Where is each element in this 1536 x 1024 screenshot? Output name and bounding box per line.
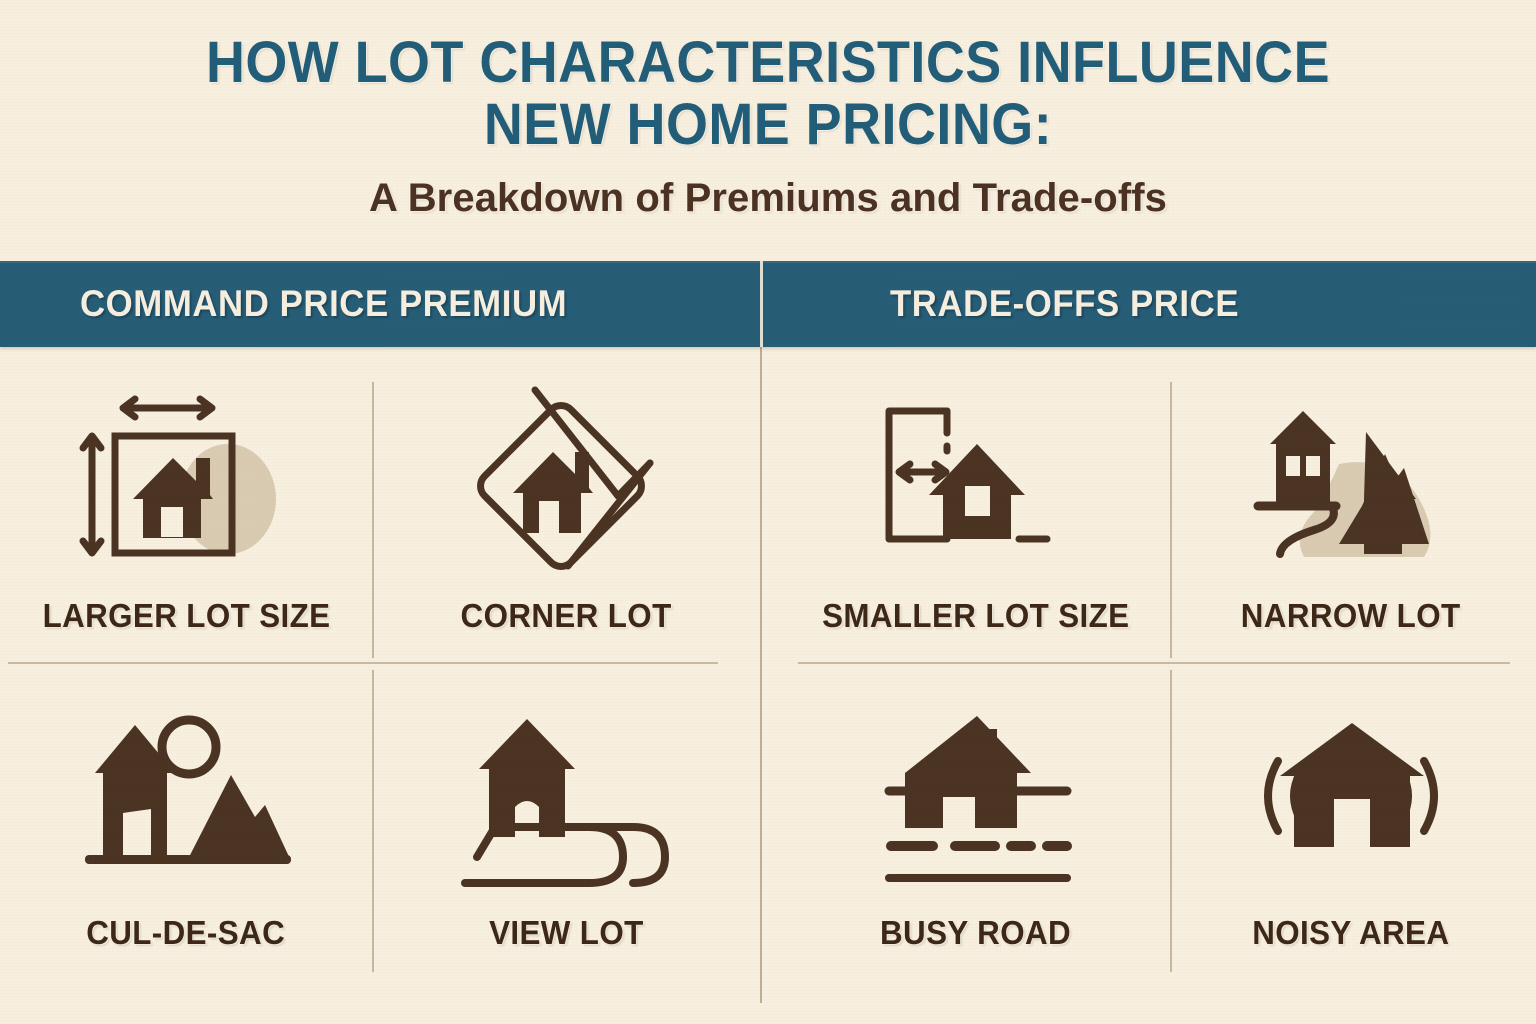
feature-cell-noisy-area[interactable]: NOISY AREA bbox=[1165, 692, 1536, 1008]
title-line-1: HOW LOT CHARACTERISTICS INFLUENCE bbox=[206, 30, 1330, 95]
page-title: HOW LOT CHARACTERISTICS INFLUENCE NEW HO… bbox=[54, 0, 1482, 156]
feature-label: SMALLER LOT SIZE bbox=[822, 597, 1129, 635]
section-header-tradeoffs: TRADE-OFFS PRICE bbox=[762, 261, 1536, 347]
infographic-page: HOW LOT CHARACTERISTICS INFLUENCE NEW HO… bbox=[0, 0, 1536, 1024]
diamond-lot-streets-icon bbox=[451, 375, 681, 597]
house-path-mountain-icon bbox=[1244, 375, 1459, 597]
feature-cell-smaller-lot-size[interactable]: SMALLER LOT SIZE bbox=[790, 375, 1162, 691]
section-title-tradeoffs: TRADE-OFFS PRICE bbox=[890, 283, 1239, 325]
house-sound-waves-icon bbox=[1244, 692, 1459, 914]
feature-label: LARGER LOT SIZE bbox=[42, 597, 330, 635]
feature-cell-view-lot[interactable]: VIEW LOT bbox=[380, 692, 752, 1008]
house-sun-mountain-icon bbox=[79, 692, 294, 914]
feature-label: NARROW LOT bbox=[1241, 597, 1461, 635]
feature-cell-busy-road[interactable]: BUSY ROAD bbox=[790, 692, 1162, 1008]
feature-label: CUL-DE-SAC bbox=[87, 914, 286, 952]
feature-cell-cul-de-sac[interactable]: CUL-DE-SAC bbox=[0, 692, 372, 1008]
feature-cell-larger-lot-size[interactable]: LARGER LOT SIZE bbox=[0, 375, 372, 691]
feature-label: VIEW LOT bbox=[489, 914, 644, 952]
narrow-rectangle-house-icon bbox=[871, 375, 1081, 597]
title-line-2: NEW HOME PRICING: bbox=[54, 94, 1482, 156]
header: HOW LOT CHARACTERISTICS INFLUENCE NEW HO… bbox=[0, 0, 1536, 261]
section-header-premium: COMMAND PRICE PREMIUM bbox=[0, 261, 760, 347]
feature-cell-narrow-lot[interactable]: NARROW LOT bbox=[1165, 375, 1536, 691]
feature-label: NOISY AREA bbox=[1252, 914, 1449, 952]
house-road-lines-icon bbox=[871, 692, 1081, 914]
feature-label: CORNER LOT bbox=[460, 597, 671, 635]
feature-grid: LARGER LOT SIZE CORNER LOT bbox=[0, 347, 1536, 1024]
lot-square-arrows-icon bbox=[61, 375, 311, 597]
section-band: COMMAND PRICE PREMIUM TRADE-OFFS PRICE bbox=[0, 261, 1536, 347]
band-divider bbox=[760, 261, 763, 347]
house-curved-road-icon bbox=[451, 692, 681, 914]
feature-cell-corner-lot[interactable]: CORNER LOT bbox=[380, 375, 752, 691]
feature-label: BUSY ROAD bbox=[881, 914, 1072, 952]
section-title-premium: COMMAND PRICE PREMIUM bbox=[80, 283, 567, 325]
page-subtitle: A Breakdown of Premiums and Trade-offs bbox=[0, 156, 1536, 221]
